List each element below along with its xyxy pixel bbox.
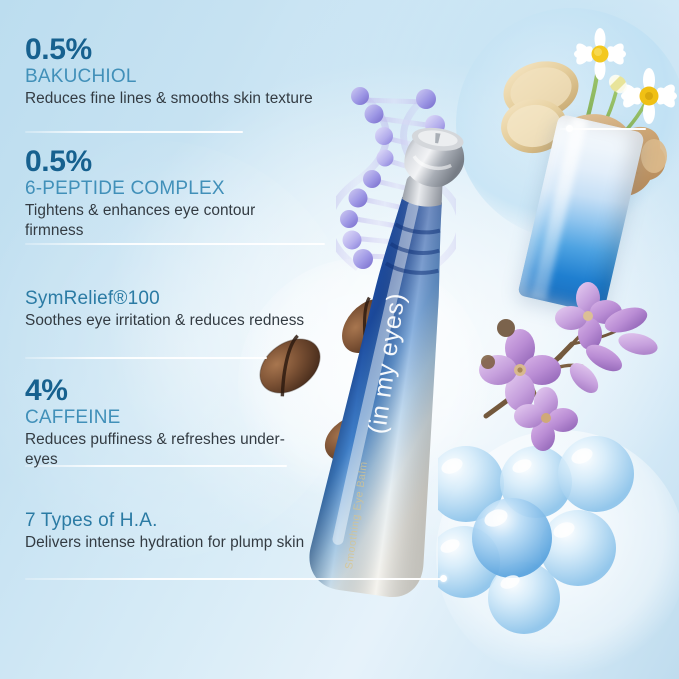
product-applicator-pen: (in my eyes) Smoothing Eye Balm [308, 108, 518, 608]
fact-percent: 4% [25, 375, 317, 406]
fact-percent: 0.5% [25, 34, 317, 65]
fact-bakuchiol: 0.5% BAKUCHIOL Reduces fine lines & smoo… [25, 34, 317, 109]
fact-description: Soothes eye irritation & reduces redness [25, 311, 317, 331]
fact-description: Tightens & enhances eye contour firmness [25, 201, 317, 240]
fact-name: SymRelief®100 [25, 288, 317, 309]
fact-name: BAKUCHIOL [25, 66, 317, 87]
fact-name: 6-PEPTIDE COMPLEX [25, 178, 317, 199]
fact-name: 7 Types of H.A. [25, 510, 317, 531]
infographic-canvas: (in my eyes) Smoothing Eye Balm 0.5% BAK… [0, 0, 679, 679]
fact-caffeine: 4% CAFFEINE Reduces puffiness & refreshe… [25, 375, 317, 470]
leader-dot-ha [440, 575, 447, 582]
fact-percent: 0.5% [25, 146, 317, 177]
leader-dot-ginger [566, 125, 573, 132]
fact-peptide: 0.5% 6-PEPTIDE COMPLEX Tightens & enhanc… [25, 146, 317, 241]
fact-description: Delivers intense hydration for plump ski… [25, 533, 317, 553]
fact-description: Reduces puffiness & refreshes under-eyes [25, 430, 317, 469]
ingredient-list: 0.5% BAKUCHIOL Reduces fine lines & smoo… [0, 0, 330, 679]
fact-name: CAFFEINE [25, 407, 317, 428]
fact-description: Reduces fine lines & smooths skin textur… [25, 89, 317, 109]
fact-hyaluronic-acid: 7 Types of H.A. Delivers intense hydrati… [25, 510, 317, 553]
fact-symrelief: SymRelief®100 Soothes eye irritation & r… [25, 288, 317, 331]
